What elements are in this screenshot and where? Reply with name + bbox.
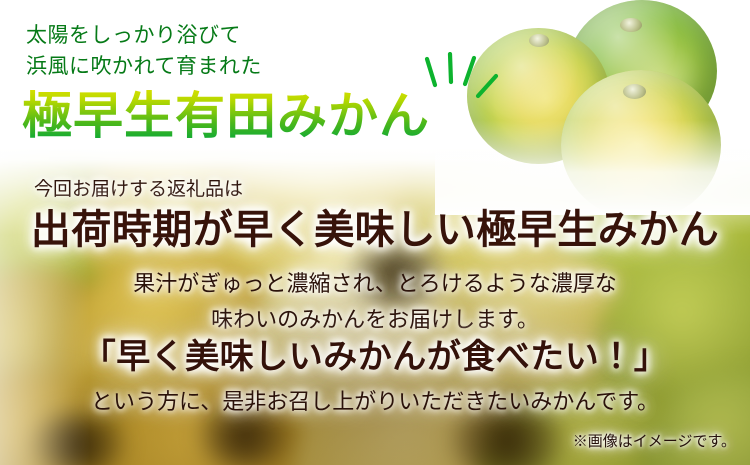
image-disclaimer: ※画像はイメージです。 (573, 432, 736, 452)
promo-banner: 太陽をしっかり浴びて 浜風に吹かれて育まれた 極早生有田みかん 今回お届けする返… (0, 0, 750, 465)
closing-text: という方に、是非お召し上がりいただきたいみかんです。 (0, 387, 750, 417)
quote-text: 「早く美味しいみかんが食べたい！」 (0, 336, 750, 380)
body-copy: 果汁がぎゅっと濃縮され、とろけるような濃厚な 味わいのみかんをお届けします。 (0, 266, 750, 338)
headline-text: 出荷時期が早く美味しい極早生みかん (0, 206, 750, 254)
lead-line-1: 太陽をしっかり浴びて (26, 20, 262, 51)
body-copy-line-2: 味わいのみかんをお届けします。 (0, 302, 750, 338)
page-title: 極早生有田みかん (22, 88, 430, 144)
lead-line-2: 浜風に吹かれて育まれた (26, 51, 262, 82)
sub-lead-text: 今回お届けする返礼品は (34, 178, 243, 202)
body-copy-line-1: 果汁がぎゅっと濃縮され、とろけるような濃厚な (0, 266, 750, 302)
lead-text: 太陽をしっかり浴びて 浜風に吹かれて育まれた (26, 20, 262, 82)
